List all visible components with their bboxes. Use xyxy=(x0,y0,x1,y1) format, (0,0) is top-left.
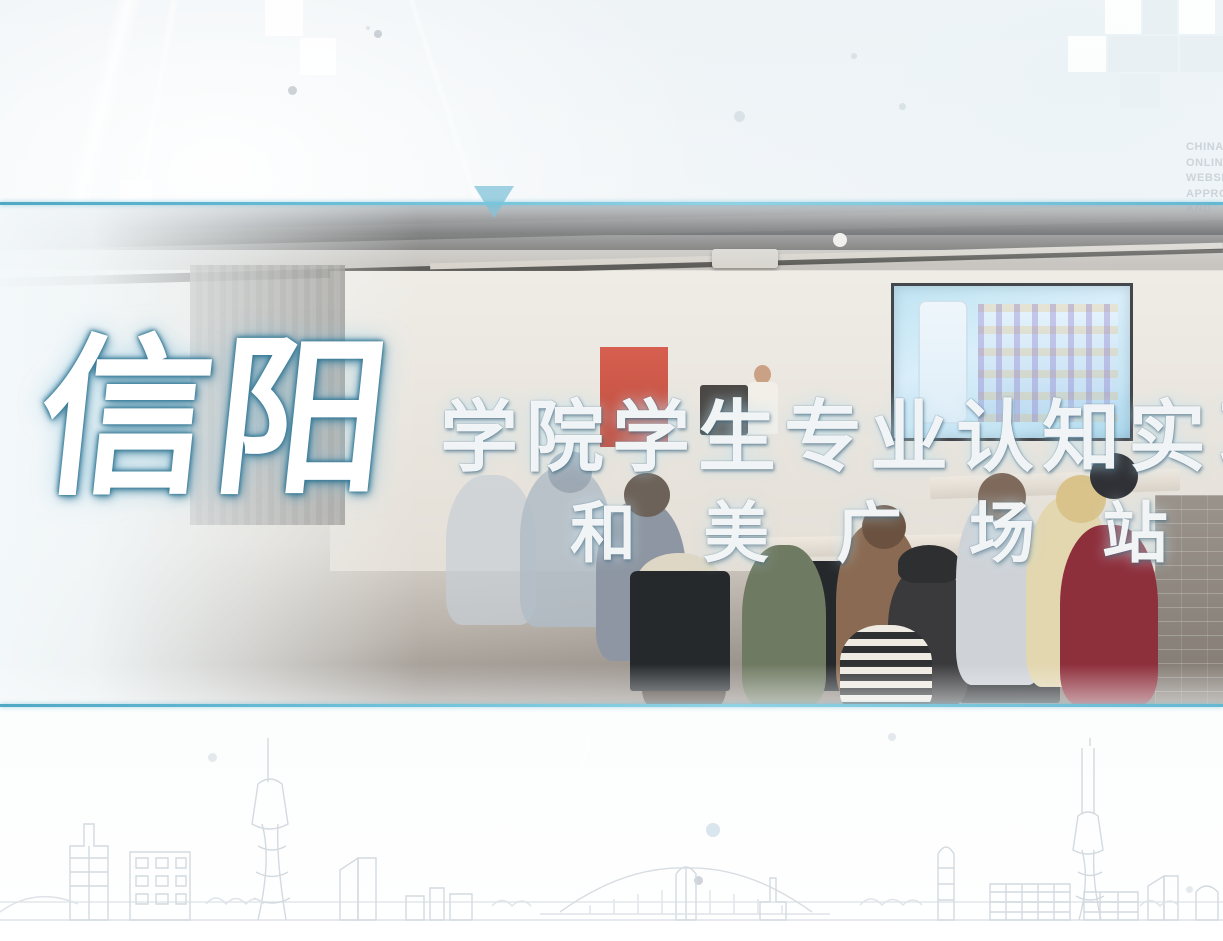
decor-dot xyxy=(851,53,857,59)
decor-square xyxy=(1105,0,1141,34)
decor-square xyxy=(1120,74,1160,108)
decor-square xyxy=(1179,0,1215,34)
watermark-line: AND xyxy=(1186,202,1223,218)
city-skyline-illustration xyxy=(0,706,1223,941)
decor-square xyxy=(1068,36,1106,72)
photo-bottom-fade xyxy=(0,664,1223,704)
decor-square xyxy=(265,0,303,36)
watermark-line: APPROVED xyxy=(1186,187,1223,203)
subtitle-line-1: 学院学生专业认知实习 xyxy=(440,392,1200,487)
video-title-card: 信阳 学院学生专业认知实习 和 美 广 场 站 CHINA ONLINE WEB… xyxy=(0,0,1223,941)
decor-square xyxy=(1143,0,1177,34)
calligraphy-title: 信阳 xyxy=(29,318,471,523)
decor-dot xyxy=(899,103,906,110)
watermark-line: ONLINE xyxy=(1186,156,1223,172)
watermark-line: WEBSITE xyxy=(1186,171,1223,187)
decor-square xyxy=(300,38,336,75)
decor-square xyxy=(1108,36,1178,72)
decor-dot xyxy=(366,26,370,30)
decor-dot xyxy=(734,111,745,122)
watermark-line: CHINA xyxy=(1186,140,1223,156)
decor-square xyxy=(1180,36,1223,72)
skyline-svg xyxy=(0,706,1223,941)
watermark-text: CHINA ONLINE WEBSITE APPROVED AND xyxy=(1186,140,1223,218)
decor-dot xyxy=(288,86,297,95)
top-divider-line xyxy=(0,202,1223,205)
decor-dot xyxy=(374,30,382,38)
subtitle-line-2: 和 美 广 场 站 xyxy=(570,492,1030,582)
